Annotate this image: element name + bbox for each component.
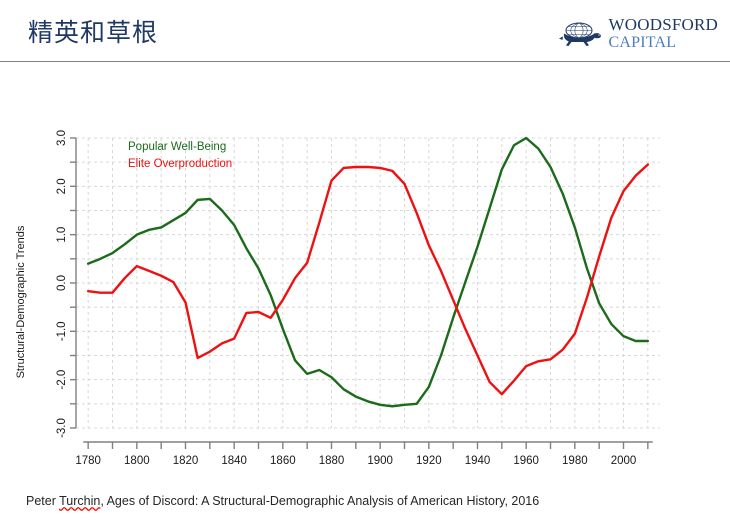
y-tick-label: 3.0 xyxy=(56,130,68,146)
y-tick-label: -2.0 xyxy=(56,370,68,390)
brand-wordmark: WOODSFORD CAPITAL xyxy=(609,16,718,51)
structural-demographic-trends-chart: -3.0-2.0-1.00.01.02.03.01780180018201840… xyxy=(0,72,730,472)
legend-item-1: Popular Well-Being xyxy=(128,141,226,153)
y-tick-label: 2.0 xyxy=(56,178,68,194)
y-axis-title: Structural-Demographic Trends xyxy=(15,225,27,378)
x-tick-label: 1840 xyxy=(221,455,247,467)
x-tick-label: 1960 xyxy=(513,455,539,467)
brand-name-secondary: CAPITAL xyxy=(609,35,718,51)
series-line xyxy=(88,138,648,406)
y-tick-label: -3.0 xyxy=(56,418,68,438)
citation-suffix: , Ages of Discord: A Structural-Demograp… xyxy=(100,494,539,508)
x-tick-label: 1800 xyxy=(124,455,150,467)
chart-gridlines xyxy=(76,138,660,428)
x-tick-label: 1900 xyxy=(367,455,393,467)
turtle-globe-logo-icon xyxy=(557,18,603,50)
slide-header: 精英和草根 WOODSFORD CAPITAL xyxy=(0,0,730,62)
legend-item-2: Elite Overproduction xyxy=(128,158,232,170)
x-tick-label: 1940 xyxy=(465,455,491,467)
chart-axes xyxy=(70,138,653,449)
x-tick-label: 1860 xyxy=(270,455,296,467)
citation-flagged-word: Turchin xyxy=(59,494,100,508)
citation-prefix: Peter xyxy=(26,494,59,508)
x-tick-label: 1920 xyxy=(416,455,442,467)
page-title: 精英和草根 xyxy=(28,16,158,50)
chart-container: -3.0-2.0-1.00.01.02.03.01780180018201840… xyxy=(0,72,730,472)
x-tick-label: 1820 xyxy=(173,455,199,467)
chart-legend: Popular Well-BeingElite Overproduction xyxy=(128,141,232,170)
chart-tick-labels: -3.0-2.0-1.00.01.02.03.01780180018201840… xyxy=(56,130,636,467)
brand-logo: WOODSFORD CAPITAL xyxy=(557,16,718,51)
y-tick-label: -1.0 xyxy=(56,321,68,341)
x-tick-label: 1980 xyxy=(562,455,588,467)
header-divider xyxy=(0,61,730,62)
slide-footer: Peter Turchin, Ages of Discord: A Struct… xyxy=(0,490,730,528)
x-tick-label: 1880 xyxy=(319,455,345,467)
y-tick-label: 1.0 xyxy=(56,227,68,243)
brand-name-primary: WOODSFORD xyxy=(609,16,718,33)
x-tick-label: 1780 xyxy=(75,455,101,467)
source-citation: Peter Turchin, Ages of Discord: A Struct… xyxy=(26,494,539,508)
x-tick-label: 2000 xyxy=(611,455,637,467)
y-tick-label: 0.0 xyxy=(56,275,68,291)
chart-series-lines xyxy=(88,138,648,406)
